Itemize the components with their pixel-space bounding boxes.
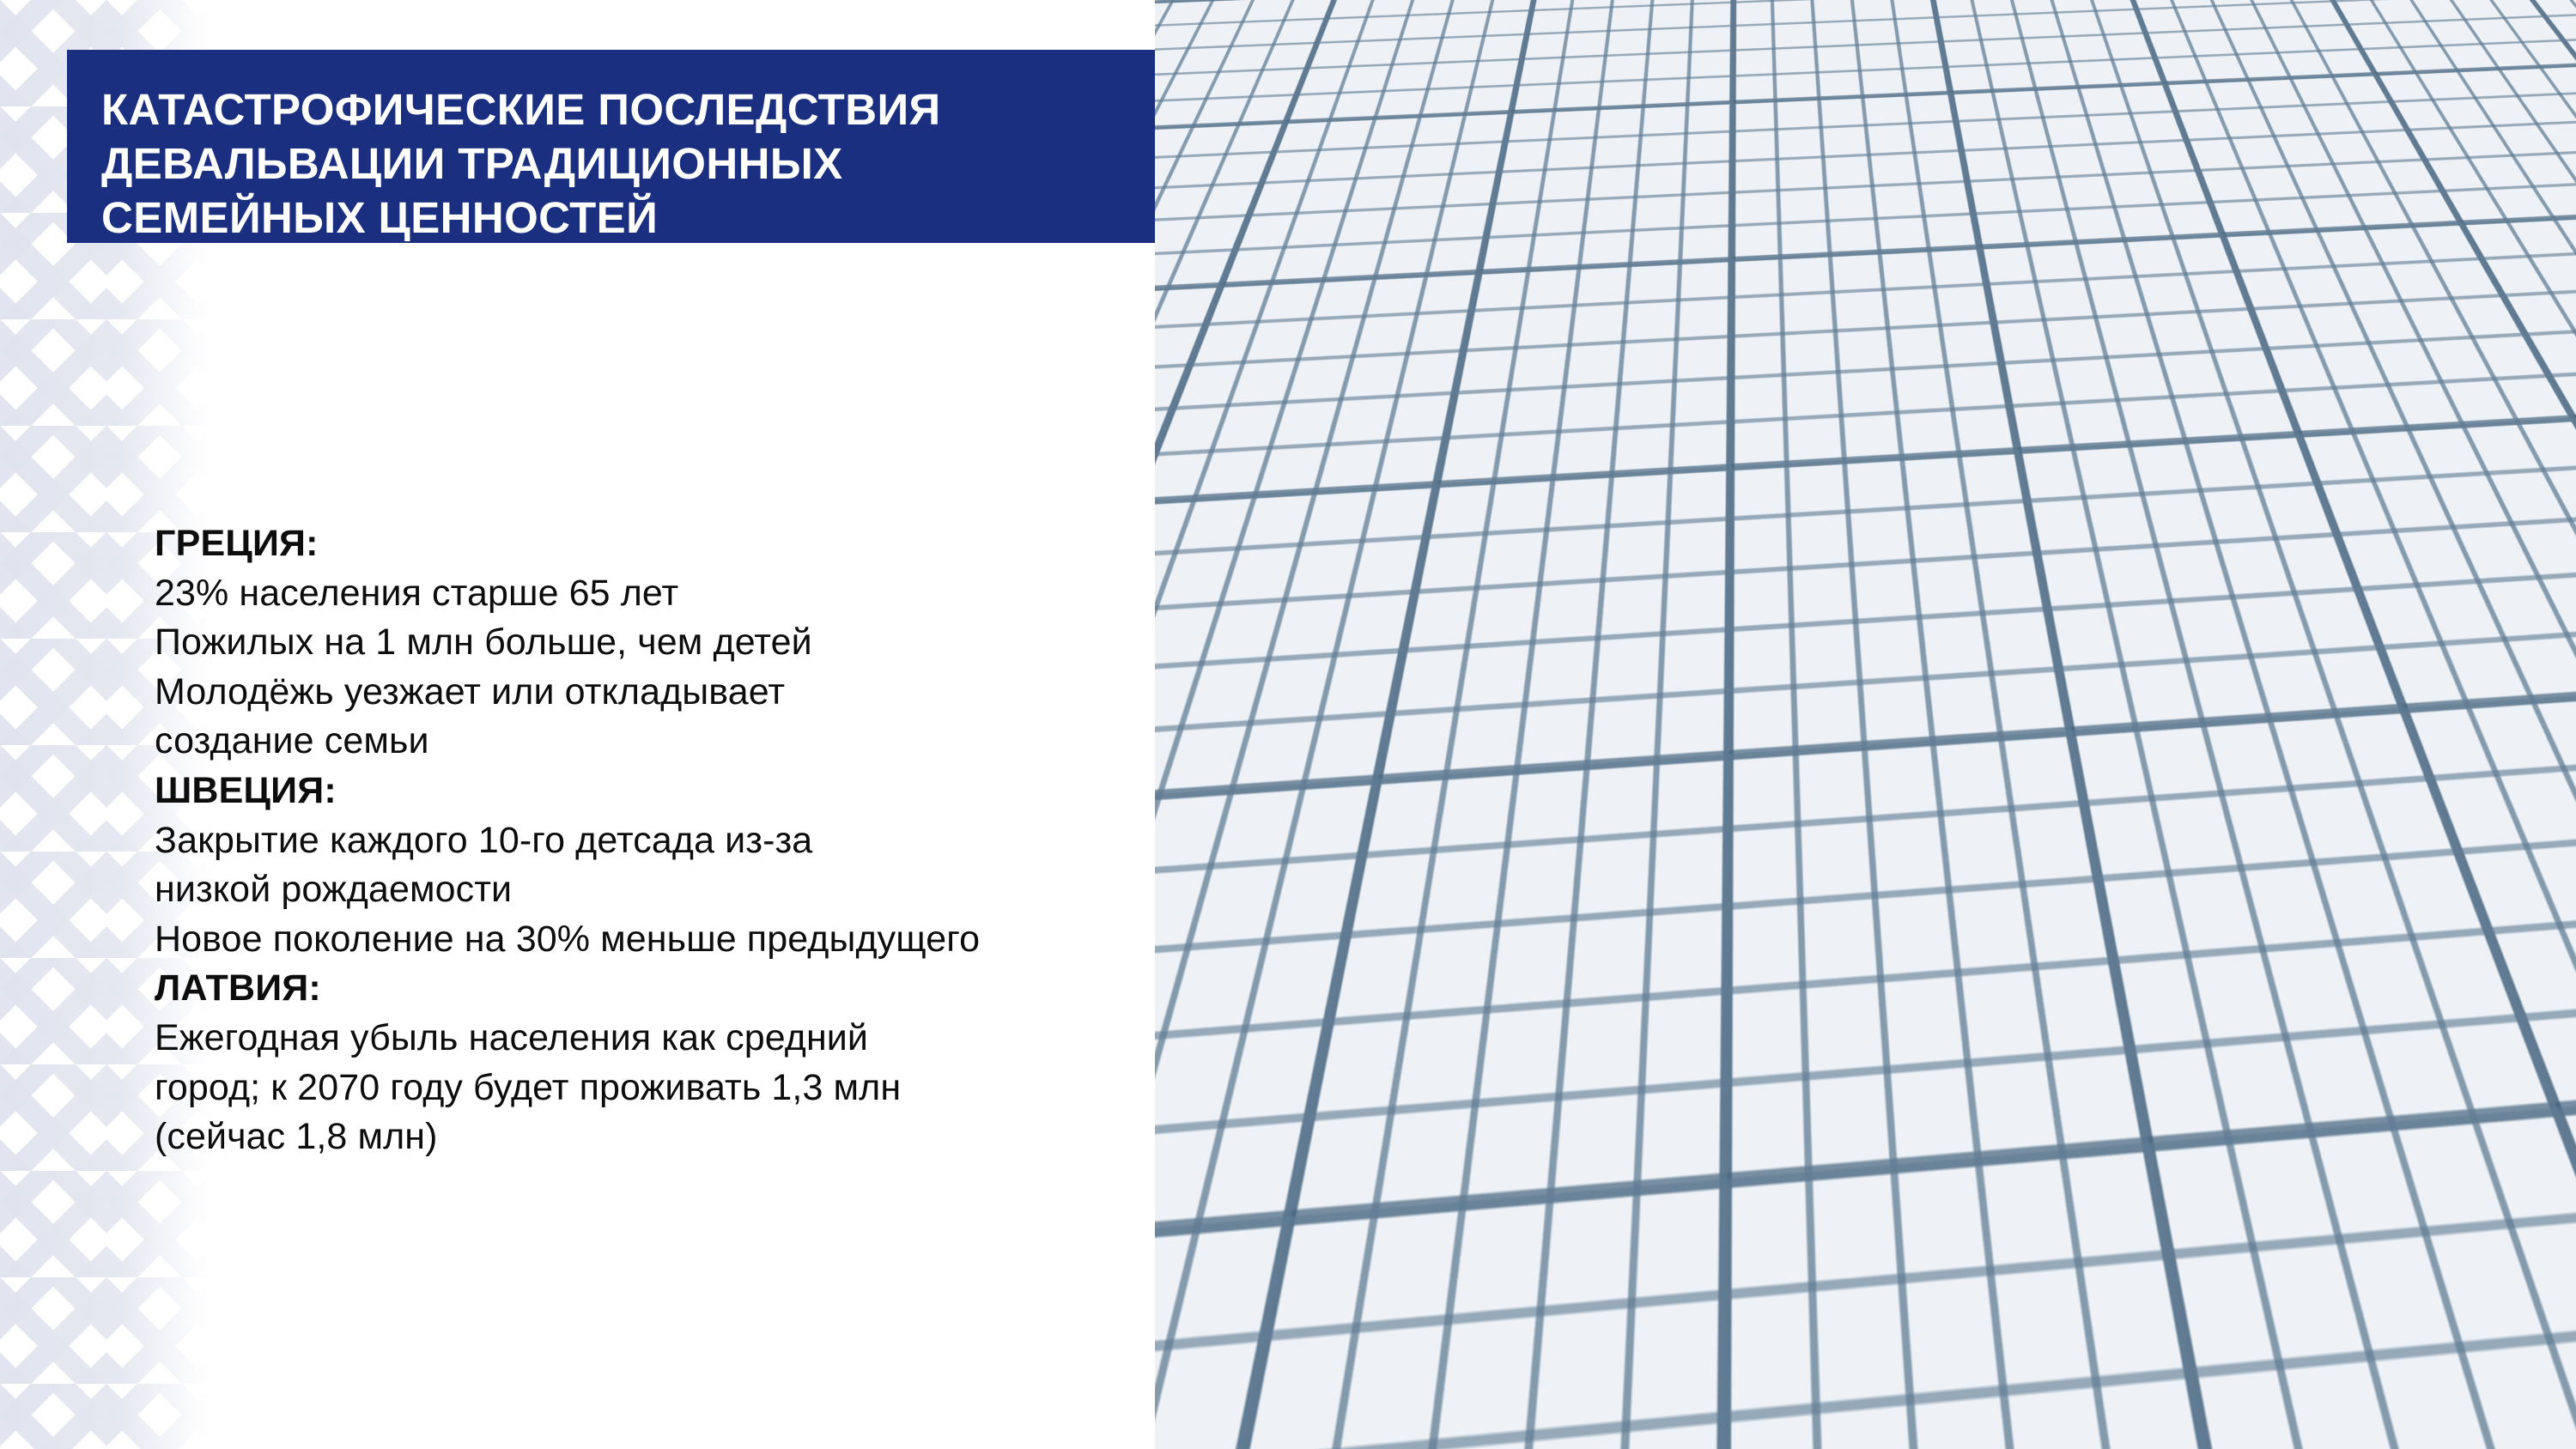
section-line: Ежегодная убыль населения как средний <box>155 1014 1374 1064</box>
title-banner: КАТАСТРОФИЧЕСКИЕ ПОСЛЕДСТВИЯ ДЕВАЛЬВАЦИИ… <box>67 50 1389 243</box>
body-content: ГРЕЦИЯ: 23% населения старше 65 лет Пожи… <box>155 519 1374 1162</box>
section-heading: ЛАТВИЯ: <box>155 964 1374 1014</box>
page-title: КАТАСТРОФИЧЕСКИЕ ПОСЛЕДСТВИЯ ДЕВАЛЬВАЦИИ… <box>101 82 1367 246</box>
section-greece: ГРЕЦИЯ: 23% населения старше 65 лет Пожи… <box>155 519 1374 767</box>
section-heading: ГРЕЦИЯ: <box>155 519 1374 569</box>
section-line: Пожилых на 1 млн больше, чем детей <box>155 618 1374 668</box>
section-sweden: ШВЕЦИЯ: Закрытие каждого 10-го детсада и… <box>155 767 1374 964</box>
section-line: Закрытие каждого 10-го детсада из-за <box>155 816 1374 866</box>
section-line: создание семьи <box>155 717 1374 767</box>
accent-bar <box>2301 1331 2576 1388</box>
section-line: низкой рождаемости <box>155 865 1374 915</box>
section-line: Новое поколение на 30% меньше предыдущег… <box>155 915 1374 965</box>
section-line: (сейчас 1,8 млн) <box>155 1113 1374 1162</box>
section-line: 23% населения старше 65 лет <box>155 569 1374 619</box>
section-line: город; к 2070 году будет проживать 1,3 м… <box>155 1064 1374 1113</box>
section-latvia: ЛАТВИЯ: Ежегодная убыль населения как ср… <box>155 964 1374 1161</box>
section-heading: ШВЕЦИЯ: <box>155 767 1374 816</box>
section-line: Молодёжь уезжает или откладывает <box>155 668 1374 718</box>
slide-root: КАТАСТРОФИЧЕСКИЕ ПОСЛЕДСТВИЯ ДЕВАЛЬВАЦИИ… <box>0 0 2576 1449</box>
